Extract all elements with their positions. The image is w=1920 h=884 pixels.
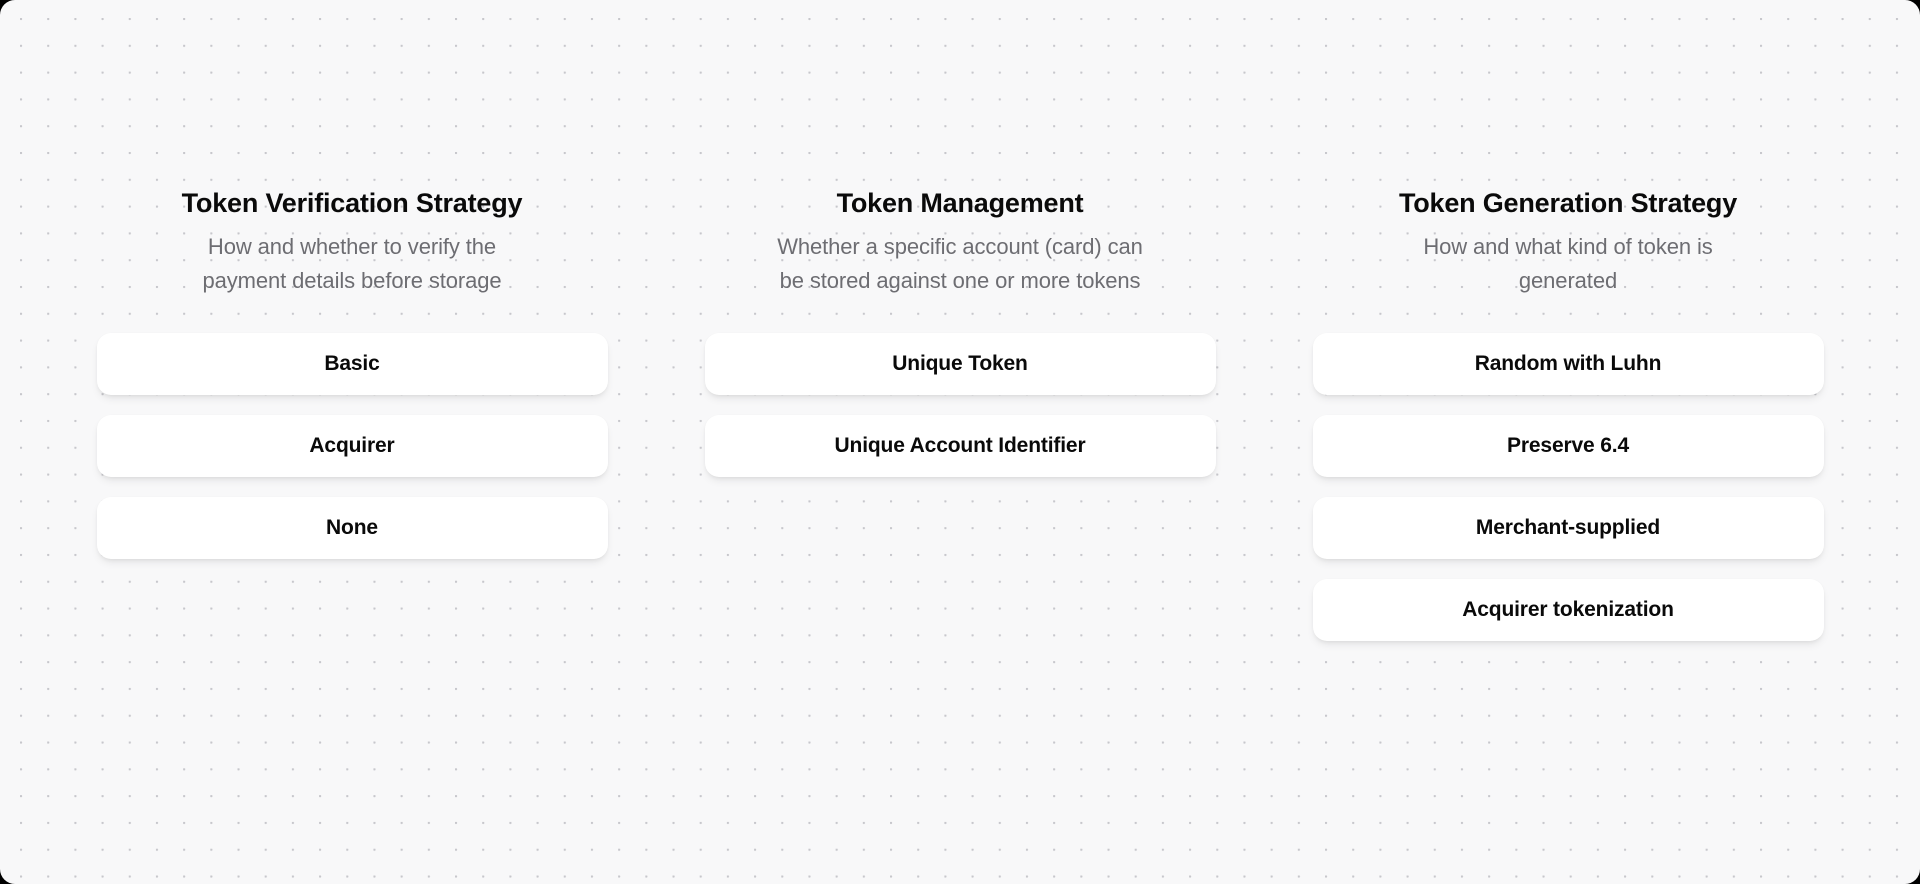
column-description-line: be stored against one or more tokens (709, 264, 1212, 298)
option-list-token-generation-strategy: Random with LuhnPreserve 6.4Merchant-sup… (1313, 333, 1824, 641)
option-pill[interactable]: Basic (97, 333, 608, 395)
option-label: Random with Luhn (1475, 353, 1662, 374)
strategy-column-token-verification-strategy: Token Verification StrategyHow and wheth… (97, 186, 608, 559)
strategy-column-token-generation-strategy: Token Generation StrategyHow and what ki… (1313, 186, 1824, 641)
option-pill[interactable]: Random with Luhn (1313, 333, 1824, 395)
option-label: Acquirer tokenization (1462, 599, 1674, 620)
column-description-line: generated (1317, 264, 1820, 298)
option-pill[interactable]: Acquirer tokenization (1313, 579, 1824, 641)
option-list-token-management: Unique TokenUnique Account Identifier (705, 333, 1216, 477)
canvas-board: Token Verification StrategyHow and wheth… (0, 0, 1920, 884)
column-title: Token Generation Strategy (1317, 186, 1820, 221)
column-description: Whether a specific account (card) canbe … (709, 230, 1212, 298)
strategy-columns: Token Verification StrategyHow and wheth… (0, 0, 1920, 884)
option-list-token-verification-strategy: BasicAcquirerNone (97, 333, 608, 559)
column-description-line: payment details before storage (101, 264, 604, 298)
option-pill[interactable]: Unique Token (705, 333, 1216, 395)
option-pill[interactable]: None (97, 497, 608, 559)
option-pill[interactable]: Preserve 6.4 (1313, 415, 1824, 477)
column-header-token-verification-strategy: Token Verification StrategyHow and wheth… (97, 186, 608, 298)
column-description-line: Whether a specific account (card) can (709, 230, 1212, 264)
column-description: How and whether to verify thepayment det… (101, 230, 604, 298)
column-description-line: How and whether to verify the (101, 230, 604, 264)
option-label: Basic (324, 353, 379, 374)
column-title: Token Management (709, 186, 1212, 221)
option-pill[interactable]: Unique Account Identifier (705, 415, 1216, 477)
column-description-line: How and what kind of token is (1317, 230, 1820, 264)
strategy-column-token-management: Token ManagementWhether a specific accou… (705, 186, 1216, 477)
option-pill[interactable]: Acquirer (97, 415, 608, 477)
column-title: Token Verification Strategy (101, 186, 604, 221)
option-label: Unique Token (892, 353, 1027, 374)
column-header-token-generation-strategy: Token Generation StrategyHow and what ki… (1313, 186, 1824, 298)
column-header-token-management: Token ManagementWhether a specific accou… (705, 186, 1216, 298)
option-label: Preserve 6.4 (1507, 435, 1629, 456)
option-label: Acquirer (309, 435, 394, 456)
column-description: How and what kind of token isgenerated (1317, 230, 1820, 298)
option-pill[interactable]: Merchant-supplied (1313, 497, 1824, 559)
option-label: Merchant-supplied (1476, 517, 1660, 538)
option-label: Unique Account Identifier (835, 435, 1086, 456)
option-label: None (326, 517, 378, 538)
